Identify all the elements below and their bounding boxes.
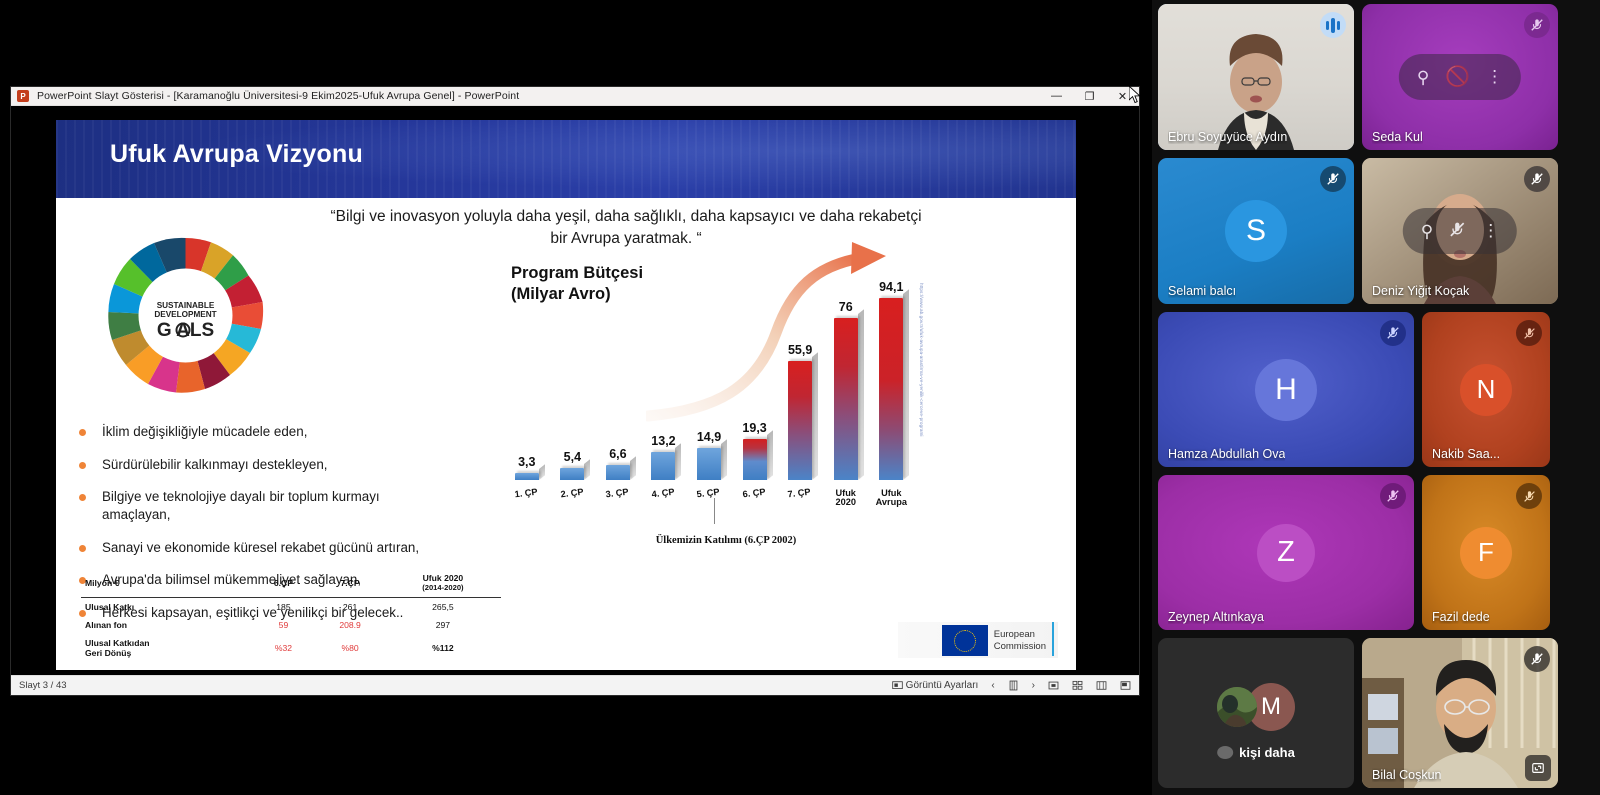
x-tick-label: 3. ÇP xyxy=(594,486,642,511)
x-tick-label: UfukAvrupa xyxy=(869,489,915,508)
bullet-text: Sanayi ve ekonomide küresel rekabet gücü… xyxy=(102,539,419,557)
bar xyxy=(743,439,767,480)
ec-accent-bar xyxy=(1052,622,1055,656)
monitor-icon xyxy=(892,680,903,691)
slide-canvas: Ufuk Avrupa Vizyonu “Bilgi ve inovasyon … xyxy=(56,120,1076,670)
window-titlebar[interactable]: P PowerPoint Slayt Gösterisi - [Karamano… xyxy=(11,87,1139,106)
ec-logo-text: European Commission xyxy=(994,629,1046,652)
participant-tile-fazil-dede[interactable]: F Fazil dede xyxy=(1422,475,1550,630)
mic-muted-icon xyxy=(1320,166,1346,192)
window-controls: — ❐ ✕ xyxy=(1040,87,1139,106)
cell-value: 297 xyxy=(385,616,501,634)
bar-column: 19,3 xyxy=(732,280,778,480)
participant-name: Bilal Coşkun xyxy=(1372,768,1441,782)
display-settings-label: Görüntü Ayarları xyxy=(906,680,979,691)
mic-muted-icon xyxy=(1524,12,1550,38)
cell-value: %112 xyxy=(385,634,501,662)
bar-column: 3,3 xyxy=(504,280,550,480)
participant-tile-bilal-coskun[interactable]: Bilal Coşkun xyxy=(1362,638,1558,788)
european-commission-logo: European Commission xyxy=(942,625,1046,656)
bar-column: 94,1 xyxy=(869,280,915,480)
bar xyxy=(606,465,630,480)
table-row: Ulusal Katkı 185 261 265,5 xyxy=(81,598,501,617)
bar-value: 76 xyxy=(839,300,853,314)
participant-row: Z Zeynep Altınkaya F Fazil dede xyxy=(1158,475,1594,630)
col-header-fp7: 7.ÇP xyxy=(315,570,384,598)
bar-column: 6,6 xyxy=(595,280,641,480)
avatar: Z xyxy=(1257,524,1315,582)
tile-hover-controls[interactable]: ⚲ ⋮ xyxy=(1403,208,1517,254)
bullet-dot-icon xyxy=(79,462,86,469)
fullscreen-button[interactable] xyxy=(1525,755,1551,781)
avatar: H xyxy=(1255,359,1317,421)
cell-value: 185 xyxy=(252,598,316,617)
more-participants-tile[interactable]: M kişi daha xyxy=(1158,638,1354,788)
window-title: PowerPoint Slayt Gösterisi - [Karamanoğl… xyxy=(37,90,519,102)
participant-row: S Selami balcı xyxy=(1158,158,1594,304)
mute-mic-icon[interactable] xyxy=(1449,221,1466,241)
x-tick-label: Ufuk2020 xyxy=(823,489,869,508)
program-budget-chart: Program Bütçesi (Milyar Avro) xyxy=(496,228,916,528)
participant-row: Ebru Soyuyüce Aydın ⚲ 🚫 ⋮ Seda Kul xyxy=(1158,4,1594,150)
col-header-h2020-line1: Ufuk 2020 xyxy=(389,573,497,583)
fullscreen-icon xyxy=(1531,761,1545,775)
svg-text:DEVELOPMENT: DEVELOPMENT xyxy=(154,310,216,319)
pin-icon[interactable]: ⚲ xyxy=(1417,69,1429,86)
slide-stage: Ufuk Avrupa Vizyonu “Bilgi ve inovasyon … xyxy=(11,106,1139,675)
bar xyxy=(788,361,812,480)
bar xyxy=(879,298,903,480)
powerpoint-status-bar: Slayt 3 / 43 Görüntü Ayarları ‹ xyxy=(11,675,1139,695)
maximize-button[interactable]: ❐ xyxy=(1073,87,1106,106)
mic-muted-icon xyxy=(1524,646,1550,672)
avatar: F xyxy=(1460,527,1512,579)
participant-tile-deniz-yigit-kocak[interactable]: ⚲ ⋮ Deniz Yiğit Koçak xyxy=(1362,158,1558,304)
more-participants-label: kişi daha xyxy=(1239,745,1295,760)
bar xyxy=(560,468,584,480)
list-item: Sürdürülebilir kalkınmayı destekleyen, xyxy=(74,456,504,474)
cell-value: 261 xyxy=(315,598,384,617)
list-item: Sanayi ve ekonomide küresel rekabet gücü… xyxy=(74,539,504,557)
bar-value: 14,9 xyxy=(697,430,721,444)
mic-muted-icon xyxy=(1380,483,1406,509)
mute-slash-icon[interactable]: 🚫 xyxy=(1445,67,1470,87)
table-row: Ulusal Katkıdan Geri Dönüş %32 %80 %112 xyxy=(81,634,501,662)
shared-screen-region: P PowerPoint Slayt Gösterisi - [Karamano… xyxy=(0,0,1152,795)
chart-footnote: Ülkemizin Katılımı (6.ÇP 2002) xyxy=(556,535,896,546)
presenter-view-button[interactable] xyxy=(1120,680,1131,691)
bar xyxy=(834,318,858,480)
more-options-icon[interactable]: ⋮ xyxy=(1486,73,1503,82)
participant-name: Deniz Yiğit Koçak xyxy=(1372,284,1469,298)
bullet-text: Bilgiye ve teknolojiye dayalı bir toplum… xyxy=(102,488,432,523)
participant-rail: Ebru Soyuyüce Aydın ⚲ 🚫 ⋮ Seda Kul S xyxy=(1152,0,1600,795)
row-label: Ulusal Katkı xyxy=(81,598,252,617)
bullet-text: İklim değişikliğiyle mücadele eden, xyxy=(102,423,307,441)
x-tick-label: 5. ÇP xyxy=(685,486,733,511)
mic-muted-icon xyxy=(1380,320,1406,346)
pen-tools-button[interactable] xyxy=(1008,680,1019,691)
eu-stars-icon xyxy=(954,630,976,652)
bar-value: 6,6 xyxy=(609,447,626,461)
slide-header-band: Ufuk Avrupa Vizyonu xyxy=(56,120,1076,198)
sdg-wheel-graphic: SUSTAINABLE DEVELOPMENT G ALS xyxy=(98,228,273,403)
ec-logo-line1: European xyxy=(994,629,1046,640)
x-tick-label: 1. ÇP xyxy=(503,486,551,511)
participant-name: Ebru Soyuyüce Aydın xyxy=(1168,130,1287,144)
cell-value: %80 xyxy=(315,634,384,662)
table-header-row: Milyon € 6.ÇP 7.ÇP Ufuk 2020 (2014-2020) xyxy=(81,570,501,598)
chart-bars: 3,3 5,4 6,6 xyxy=(504,280,914,480)
participant-row: M kişi daha xyxy=(1158,638,1594,788)
participant-name: Nakib Saa... xyxy=(1432,447,1500,461)
stage-letterbox-right xyxy=(1093,106,1139,675)
participant-tile-zeynep-altinkaya[interactable]: Z Zeynep Altınkaya xyxy=(1158,475,1414,630)
more-options-icon[interactable]: ⋮ xyxy=(1482,227,1499,236)
bar-value: 55,9 xyxy=(788,343,812,357)
speaking-indicator-icon xyxy=(1320,12,1346,38)
mic-muted-icon xyxy=(1516,320,1542,346)
participant-tile-hamza-abdullah-ova[interactable]: H Hamza Abdullah Ova xyxy=(1158,312,1414,467)
row-label: Alınan fon xyxy=(81,616,252,634)
x-tick-label: 4. ÇP xyxy=(640,486,688,511)
mic-muted-icon xyxy=(1524,166,1550,192)
cell-value: 265,5 xyxy=(385,598,501,617)
slide-body: “Bilgi ve inovasyon yoluyla daha yeşil, … xyxy=(56,198,1076,670)
table-row: Alınan fon 59 208.9 297 xyxy=(81,616,501,634)
chart-x-labels: 1. ÇP 2. ÇP 3. ÇP 4. ÇP 5. ÇP 6. ÇP 7. Ç… xyxy=(504,489,914,508)
avatar: N xyxy=(1460,364,1512,416)
col-header-h2020-line2: (2014-2020) xyxy=(389,583,497,592)
row-label-line2: Geri Dönüş xyxy=(85,648,248,658)
participant-name: Seda Kul xyxy=(1372,130,1423,144)
participant-row: H Hamza Abdullah Ova N Nakib Saa... xyxy=(1158,312,1594,467)
x-tick-label: 6. ÇP xyxy=(731,486,779,511)
bar-value: 19,3 xyxy=(742,421,766,435)
avatar: S xyxy=(1225,200,1287,262)
ec-logo-line2: Commission xyxy=(994,641,1046,652)
bar-column: 13,2 xyxy=(641,280,687,480)
pin-icon[interactable]: ⚲ xyxy=(1421,223,1433,240)
bar-column: 14,9 xyxy=(686,280,732,480)
bar-value: 94,1 xyxy=(879,280,903,294)
eu-flag-icon xyxy=(942,625,988,656)
row-label: Ulusal Katkıdan Geri Dönüş xyxy=(81,634,252,662)
bar-column: 5,4 xyxy=(550,280,596,480)
bar-value: 3,3 xyxy=(518,455,535,469)
participant-tile-selami-balci[interactable]: S Selami balcı xyxy=(1158,158,1354,304)
col-header-h2020: Ufuk 2020 (2014-2020) xyxy=(385,570,501,598)
participant-name: Zeynep Altınkaya xyxy=(1168,610,1264,624)
svg-text:SUSTAINABLE: SUSTAINABLE xyxy=(157,301,215,310)
col-header-fp6: 6.ÇP xyxy=(252,570,316,598)
participant-name: Hamza Abdullah Ova xyxy=(1168,447,1285,461)
pen-icon xyxy=(1008,680,1019,691)
cell-value: 208.9 xyxy=(315,616,384,634)
bar xyxy=(651,452,675,480)
participant-tile-nakib-saa[interactable]: N Nakib Saa... xyxy=(1422,312,1550,467)
chart-source-credit: https://www.ab.gov.tr/ufuk-avrupa-arasti… xyxy=(919,283,924,437)
previous-slide-button[interactable]: ‹ xyxy=(991,680,994,691)
participant-name: Fazil dede xyxy=(1432,610,1490,624)
cell-value: %32 xyxy=(252,634,316,662)
participant-tile-ebru-soyuyuce-aydin[interactable]: Ebru Soyuyüce Aydın xyxy=(1158,4,1354,150)
chart-callout-line xyxy=(714,498,715,524)
cell-value: 59 xyxy=(252,616,316,634)
minimize-button[interactable]: — xyxy=(1040,87,1073,106)
bullet-dot-icon xyxy=(79,429,86,436)
status-bar-controls: Görüntü Ayarları ‹ › xyxy=(892,680,1131,691)
bar-column: 55,9 xyxy=(777,280,823,480)
zoom-slide-icon xyxy=(1048,680,1059,691)
bullet-dot-icon xyxy=(79,494,86,501)
zoom-slide-button[interactable] xyxy=(1048,680,1059,691)
x-tick-label: 7. ÇP xyxy=(776,486,824,511)
reading-view-icon xyxy=(1096,680,1107,691)
mic-muted-icon xyxy=(1516,483,1542,509)
x-tick-label: 2. ÇP xyxy=(549,486,597,511)
bar-value: 5,4 xyxy=(564,450,581,464)
participant-tile-seda-kul[interactable]: ⚲ 🚫 ⋮ Seda Kul xyxy=(1362,4,1558,150)
powerpoint-app-icon: P xyxy=(17,90,29,102)
bullet-dot-icon xyxy=(79,545,86,552)
mouse-cursor xyxy=(1129,86,1141,104)
display-settings-button[interactable]: Görüntü Ayarları xyxy=(892,680,979,691)
bullet-text: Sürdürülebilir kalkınmayı destekleyen, xyxy=(102,456,328,474)
row-label-line1: Ulusal Katkıdan xyxy=(85,638,248,648)
powerpoint-window: P PowerPoint Slayt Gösterisi - [Karamano… xyxy=(10,86,1140,696)
participant-thumbnail-avatar xyxy=(1217,687,1257,727)
slide-title: Ufuk Avrupa Vizyonu xyxy=(110,140,363,169)
bar xyxy=(697,448,721,480)
grid-icon xyxy=(1072,680,1083,691)
bar-value: 13,2 xyxy=(651,434,675,448)
more-participants-label-wrap: kişi daha xyxy=(1217,745,1295,760)
bar-column: 76 xyxy=(823,280,869,480)
list-item: Bilgiye ve teknolojiye dayalı bir toplum… xyxy=(74,488,504,523)
stage-letterbox-left xyxy=(11,106,57,675)
list-item: İklim değişikliğiyle mücadele eden, xyxy=(74,423,504,441)
budget-table: Milyon € 6.ÇP 7.ÇP Ufuk 2020 (2014-2020) xyxy=(81,570,501,662)
slide-counter: Slayt 3 / 43 xyxy=(19,680,67,691)
bar xyxy=(515,473,539,480)
reading-view-button[interactable] xyxy=(1096,680,1107,691)
col-header-unit: Milyon € xyxy=(81,570,252,598)
extra-avatar-icon xyxy=(1217,746,1233,759)
all-slides-button[interactable] xyxy=(1072,680,1083,691)
participant-name: Selami balcı xyxy=(1168,284,1236,298)
tile-hover-controls[interactable]: ⚲ 🚫 ⋮ xyxy=(1399,54,1521,100)
presenter-view-icon xyxy=(1120,680,1131,691)
next-slide-button[interactable]: › xyxy=(1032,680,1035,691)
screen-root: P PowerPoint Slayt Gösterisi - [Karamano… xyxy=(0,0,1600,795)
